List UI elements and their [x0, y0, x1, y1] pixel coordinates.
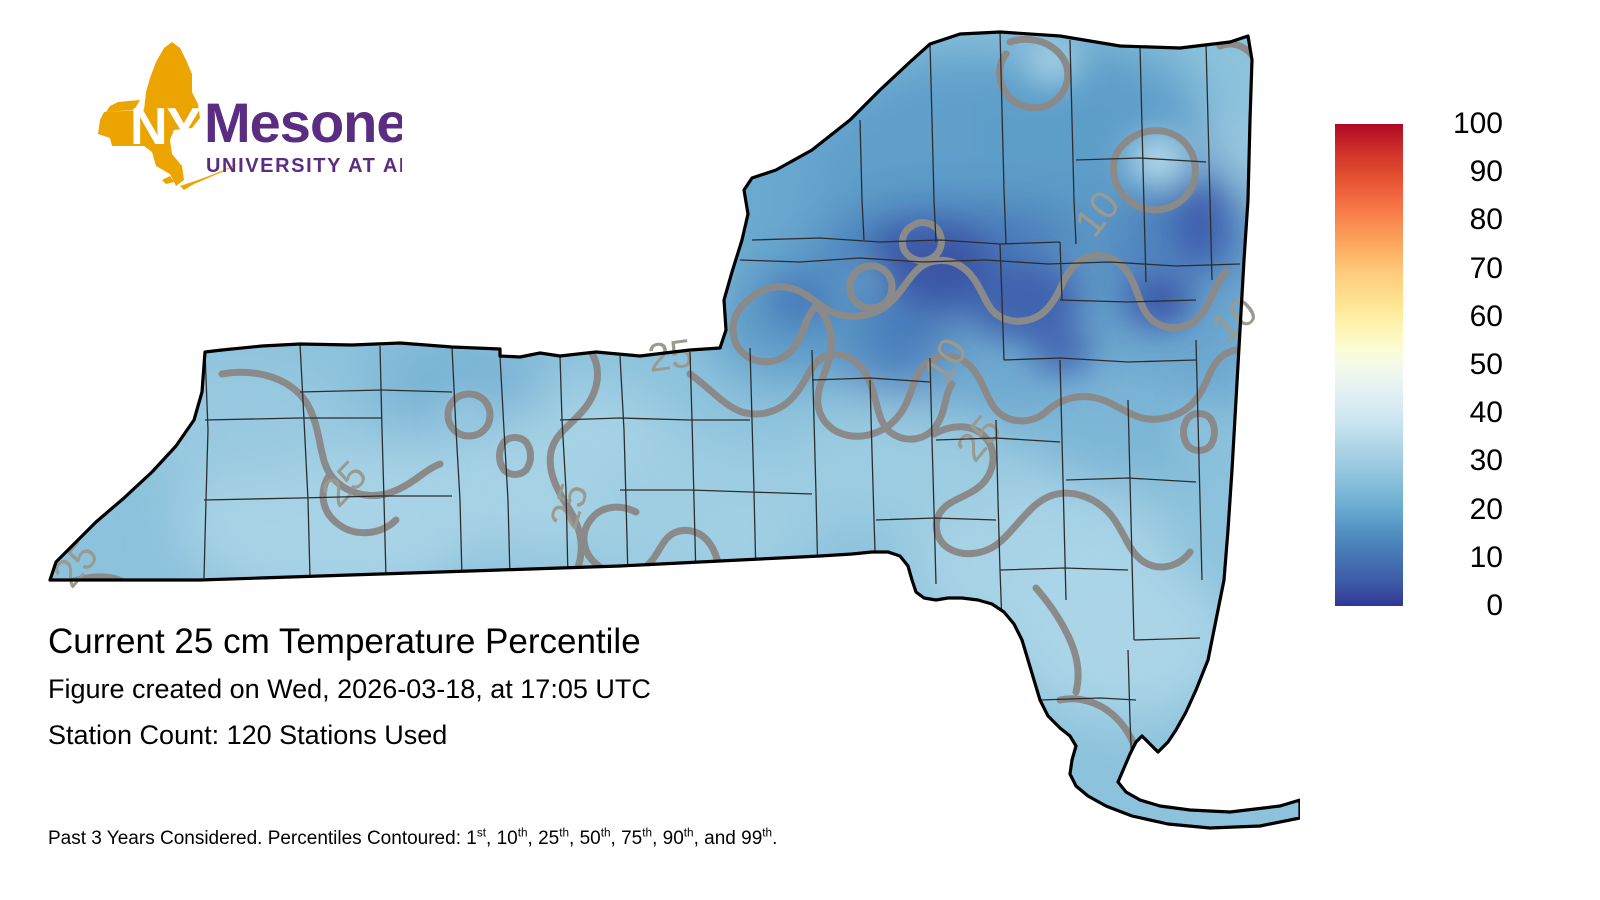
figure-caption-block: Current 25 cm Temperature Percentile Fig… — [48, 622, 1068, 754]
footnote-s0: st — [477, 827, 486, 840]
footnote-v5: 90 — [663, 828, 684, 849]
colorbar-tick: 0 — [1413, 591, 1503, 621]
station-count-line: Station Count: 120 Stations Used — [48, 717, 1068, 753]
colorbar-tick: 10 — [1413, 543, 1503, 573]
colorbar-tick: 60 — [1413, 302, 1503, 332]
footnote-s2: th — [559, 827, 569, 840]
colorbar-tick: 30 — [1413, 446, 1503, 476]
footnote-s1: th — [518, 827, 528, 840]
footnote-v1: 10 — [497, 828, 518, 849]
colorbar: 100 90 80 70 60 50 40 30 20 10 0 — [1335, 124, 1565, 606]
figure-created-line: Figure created on Wed, 2026-03-18, at 17… — [48, 671, 1068, 707]
footnote-end: . — [772, 828, 777, 849]
footnote-v0: 1 — [466, 828, 477, 849]
colorbar-tick: 100 — [1413, 109, 1503, 139]
footnote-v6: 99 — [741, 828, 762, 849]
colorbar-tick: 40 — [1413, 398, 1503, 428]
footnote-s6: th — [762, 827, 772, 840]
colorbar-tick: 70 — [1413, 254, 1503, 284]
colorbar-gradient — [1335, 124, 1403, 606]
colorbar-tick: 90 — [1413, 157, 1503, 187]
footnote-v4: 75 — [621, 828, 642, 849]
footnote-v3: 50 — [580, 828, 601, 849]
footnote-s5: th — [684, 827, 694, 840]
footnote-prefix: Past 3 Years Considered. Percentiles Con… — [48, 828, 466, 849]
colorbar-tick: 50 — [1413, 350, 1503, 380]
footnote-s4: th — [642, 827, 652, 840]
footnote-s3: th — [601, 827, 611, 840]
colorbar-tick: 80 — [1413, 205, 1503, 235]
figure-footnote: Past 3 Years Considered. Percentiles Con… — [48, 828, 777, 850]
footnote-v2: 25 — [538, 828, 559, 849]
figure-title: Current 25 cm Temperature Percentile — [48, 622, 1068, 661]
contour-label-25: 25 — [645, 331, 695, 381]
colorbar-tick: 20 — [1413, 495, 1503, 525]
colorbar-tick-labels: 100 90 80 70 60 50 40 30 20 10 0 — [1403, 124, 1565, 606]
footnote-tail: , and — [694, 828, 742, 849]
